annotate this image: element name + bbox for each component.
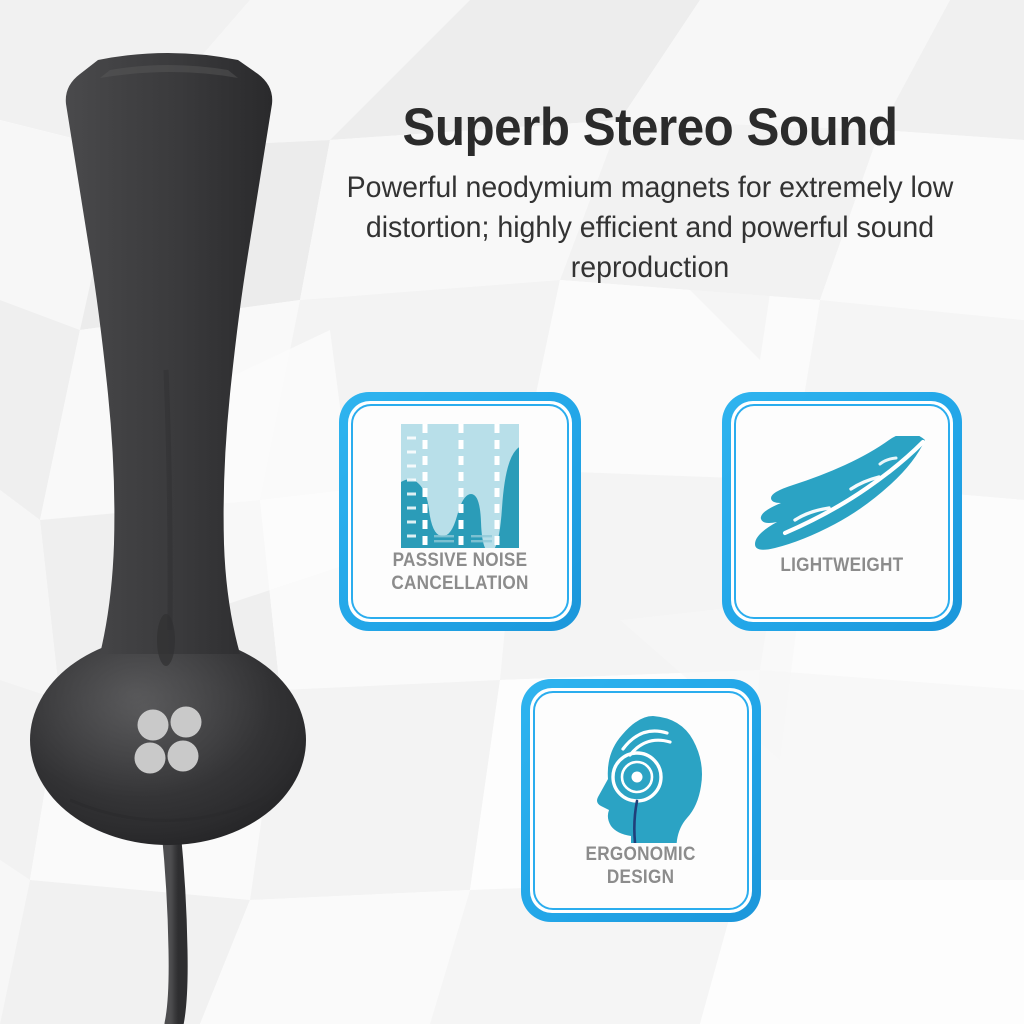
badge-label: PASSIVE NOISE CANCELLATION xyxy=(391,549,528,595)
feature-badge-ergonomic-design[interactable]: ERGONOMIC DESIGN xyxy=(521,679,761,922)
feather-icon xyxy=(755,436,930,554)
feature-badge-passive-noise-cancellation[interactable]: PASSIVE NOISE CANCELLATION xyxy=(339,392,581,631)
sound-frequency-graph-icon xyxy=(401,424,519,548)
badge-inner-frame: LIGHTWEIGHT xyxy=(731,401,953,622)
page-title: Superb Stereo Sound xyxy=(325,100,976,156)
page-subtitle: Powerful neodymium magnets for extremely… xyxy=(318,168,983,289)
headphone-product-image xyxy=(0,40,350,1024)
feature-badge-lightweight[interactable]: LIGHTWEIGHT xyxy=(722,392,962,631)
head-with-headphones-icon xyxy=(575,713,707,843)
text-block: Superb Stereo Sound Powerful neodymium m… xyxy=(300,100,1000,288)
badge-label: ERGONOMIC DESIGN xyxy=(586,843,696,889)
badge-core: PASSIVE NOISE CANCELLATION xyxy=(351,404,569,619)
badge-label: LIGHTWEIGHT xyxy=(780,554,903,577)
badge-core: ERGONOMIC DESIGN xyxy=(533,691,749,910)
badge-inner-frame: PASSIVE NOISE CANCELLATION xyxy=(348,401,572,622)
badge-core: LIGHTWEIGHT xyxy=(734,404,950,619)
headphone-cable xyxy=(171,830,178,1024)
product-feature-banner: Superb Stereo Sound Powerful neodymium m… xyxy=(0,0,1024,1024)
badge-inner-frame: ERGONOMIC DESIGN xyxy=(530,688,752,913)
